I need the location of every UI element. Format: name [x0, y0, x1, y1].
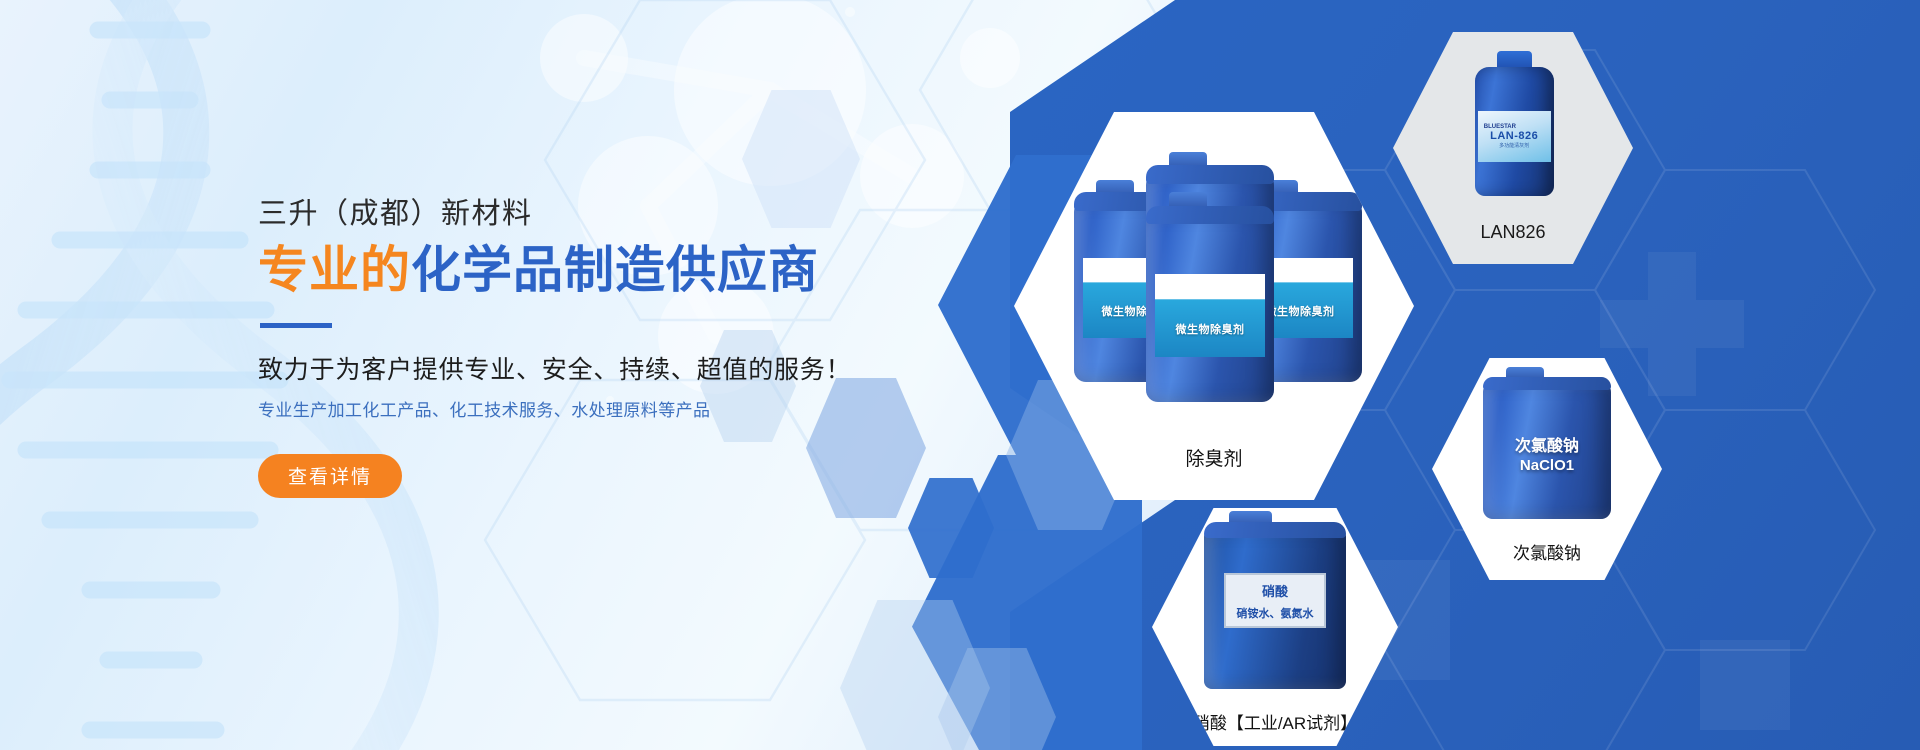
company-name: 三升（成都）新材料: [258, 196, 918, 232]
naclo-jerrycan: 次氯酸钠 NaClO1: [1483, 382, 1612, 519]
view-details-button[interactable]: 查看详情: [258, 454, 402, 498]
jerrycan-front: 微生物除臭剂: [1146, 213, 1274, 402]
jerrycan-front-label: 微生物除臭剂: [1155, 274, 1265, 357]
naclo-label-line2: NaClO1: [1483, 457, 1612, 476]
lan826-bottle: BLUESTAR LAN-826 多功能清灰剂: [1475, 51, 1554, 196]
hero-copy-block: 三升（成都）新材料 专业的化学品制造供应商 致力于为客户提供专业、安全、持续、超…: [258, 196, 918, 498]
headline-main-text: 化学品制造供应商: [411, 242, 819, 298]
headline-accent-text: 专业的: [258, 242, 411, 298]
bottle-code-text: LAN-826: [1490, 130, 1538, 142]
nitric-acid-plate-line1: 硝酸: [1262, 581, 1288, 600]
nitric-acid-label-plate: 硝酸 硝铵水、氨氮水: [1224, 573, 1327, 628]
title-divider: [260, 323, 332, 328]
product-caption-nitric-acid: 硝酸【工业/AR试剂】: [1193, 714, 1357, 746]
product-caption-sodium-hypochlorite: 次氯酸钠: [1513, 544, 1581, 580]
bottle-desc-text: 多功能清灰剂: [1499, 142, 1529, 149]
lead-text: 致力于为客户提供专业、安全、持续、超值的服务！: [258, 354, 918, 388]
product-caption-lan826: LAN826: [1480, 222, 1545, 264]
nitric-acid-jerrycan: 硝酸 硝铵水、氨氮水: [1204, 529, 1347, 689]
jerrycan-right-label-text: 微生物除臭剂: [1266, 303, 1335, 338]
naclo-label-group: 次氯酸钠 NaClO1: [1483, 437, 1612, 476]
bottle-body: BLUESTAR LAN-826 多功能清灰剂: [1475, 67, 1554, 196]
nitric-acid-plate-line2: 硝铵水、氨氮水: [1236, 605, 1313, 621]
naclo-label-line1: 次氯酸钠: [1483, 437, 1612, 457]
sub-text: 专业生产加工化工产品、化工技术服务、水处理原料等产品: [258, 399, 918, 423]
jerrycan-front-label-text: 微生物除臭剂: [1176, 321, 1245, 357]
hero-banner: 三升（成都）新材料 专业的化学品制造供应商 致力于为客户提供专业、安全、持续、超…: [0, 0, 1920, 750]
bottle-label: BLUESTAR LAN-826 多功能清灰剂: [1478, 111, 1551, 163]
product-caption-deodorizer: 除臭剂: [1185, 449, 1242, 500]
page-title: 专业的化学品制造供应商: [258, 240, 918, 301]
